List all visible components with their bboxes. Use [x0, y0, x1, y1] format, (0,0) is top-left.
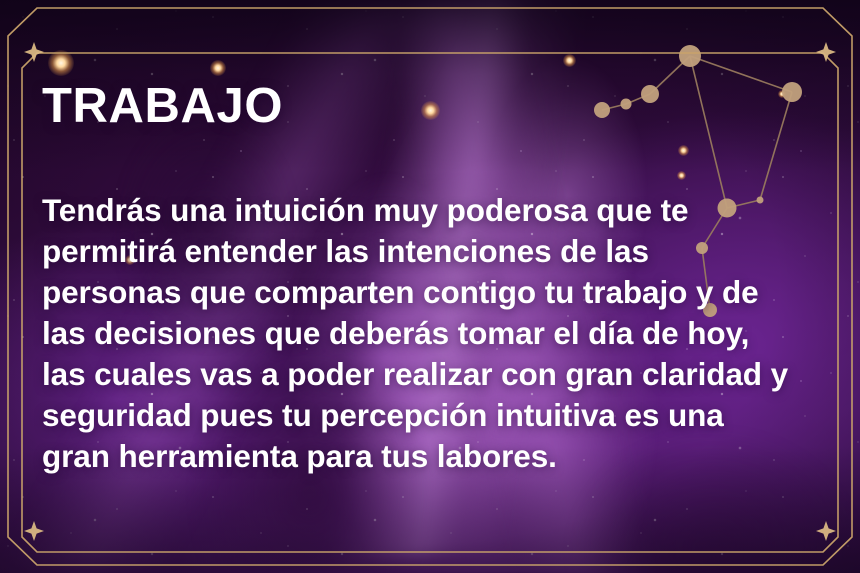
- sparkle-bottom-left: [24, 521, 44, 541]
- sparkle-top-right: [816, 42, 836, 62]
- horoscope-body-text: Tendrás una intuición muy poderosa que t…: [42, 190, 802, 477]
- glow-star-1: [48, 50, 74, 76]
- sparkle-top-left: [24, 42, 44, 62]
- sparkle-bottom-right: [816, 521, 836, 541]
- glow-star-3: [563, 54, 576, 67]
- horoscope-text-block: TRABAJO Tendrás una intuición muy podero…: [42, 82, 802, 477]
- glow-star-2: [210, 60, 226, 76]
- horoscope-card: TRABAJO Tendrás una intuición muy podero…: [0, 0, 860, 573]
- section-title: TRABAJO: [42, 82, 802, 131]
